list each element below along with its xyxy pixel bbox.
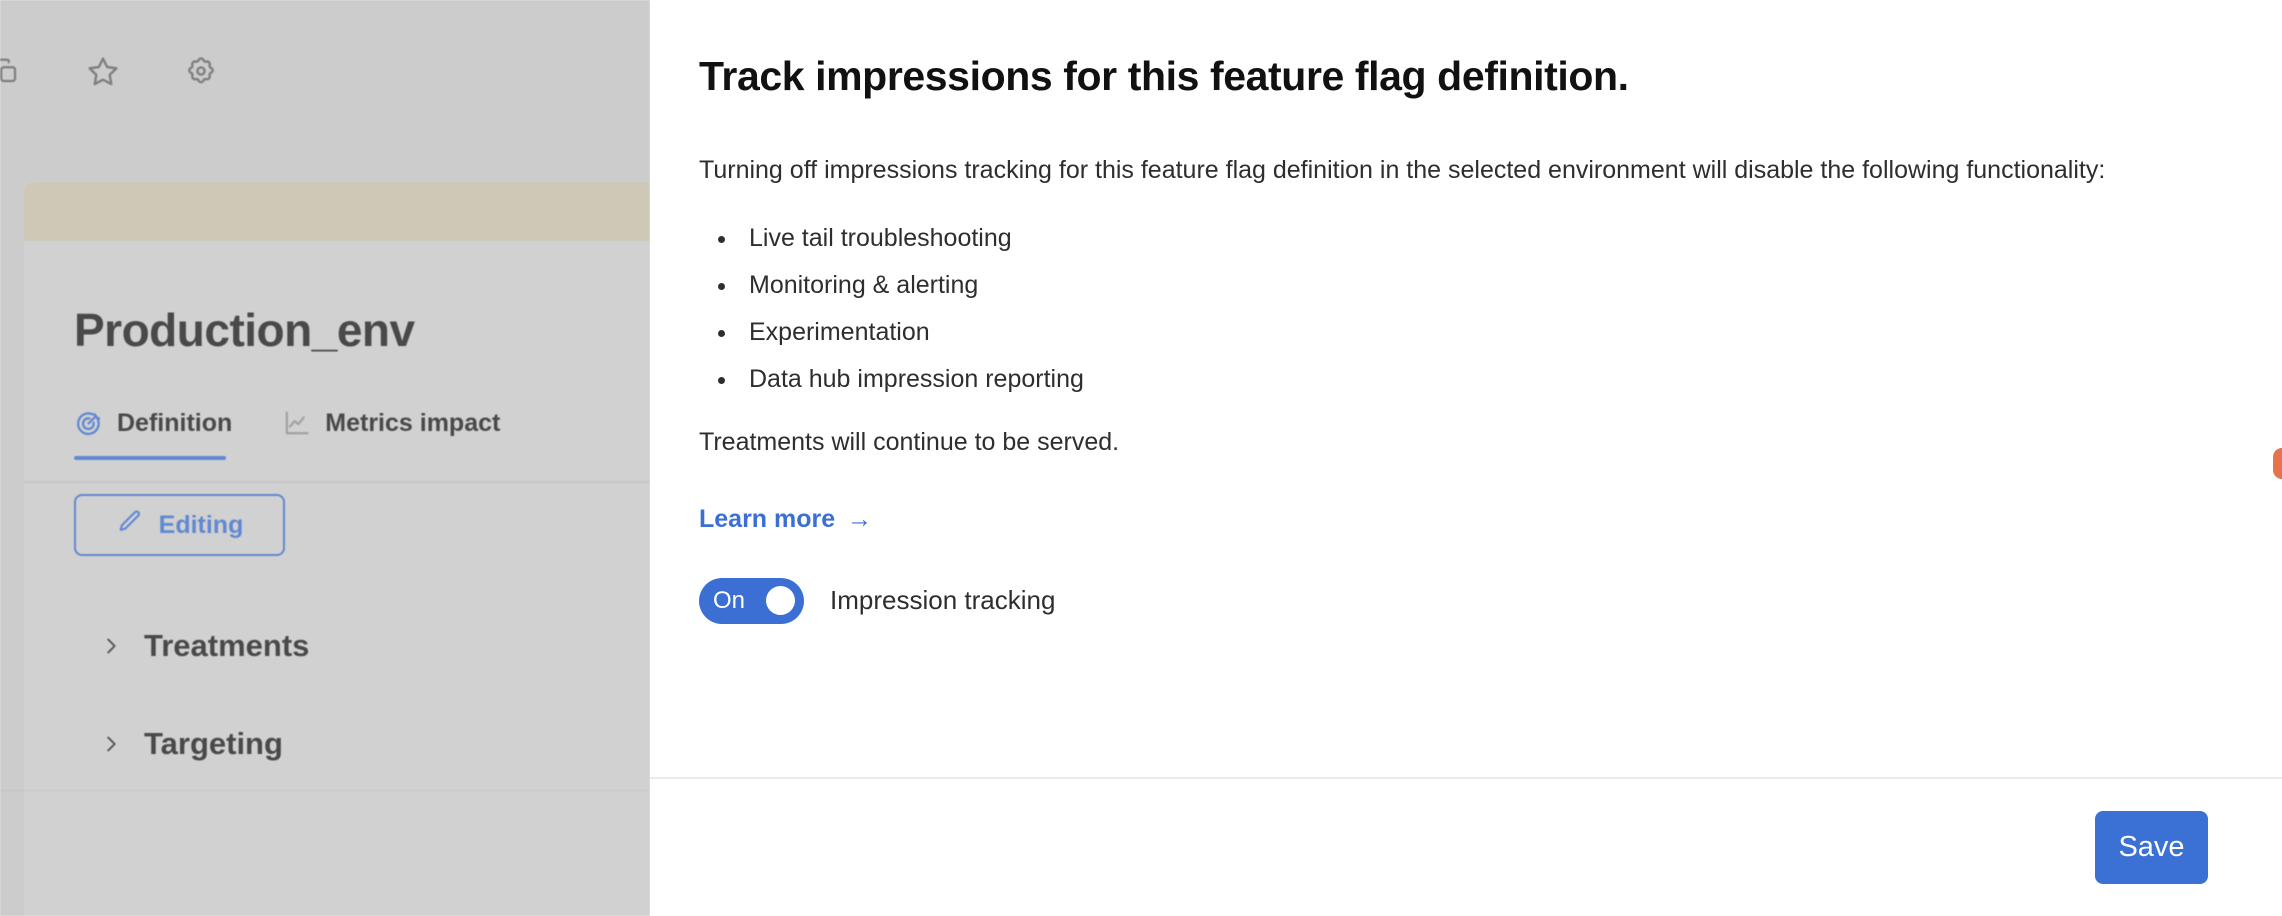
page-title: Production_env xyxy=(74,303,650,357)
tab-metrics-impact-label: Metrics impact xyxy=(325,409,500,438)
tab-metrics-impact[interactable]: Metrics impact xyxy=(282,409,500,460)
edge-badge-indicator[interactable] xyxy=(2273,448,2282,479)
impression-tracking-toggle-row: On Impression tracking xyxy=(699,578,2202,624)
tab-bar-divider xyxy=(24,481,650,483)
modal-description: Turning off impressions tracking for thi… xyxy=(699,151,2202,190)
section-treatments[interactable]: Treatments xyxy=(100,628,650,664)
toggle-state-label: On xyxy=(713,587,745,615)
star-icon[interactable] xyxy=(80,48,126,94)
modal-footer: Save xyxy=(650,779,2282,916)
list-item: Monitoring & alerting xyxy=(739,273,2202,298)
modal-backdrop: Production_env Definition xyxy=(0,0,650,916)
app-root: Production_env Definition xyxy=(0,0,2282,916)
gear-icon[interactable] xyxy=(178,48,224,94)
section-targeting-label: Targeting xyxy=(144,726,283,762)
list-item: Data hub impression reporting xyxy=(739,367,2202,392)
tab-definition[interactable]: Definition xyxy=(74,409,232,460)
section-treatments-label: Treatments xyxy=(144,628,309,664)
chevron-right-icon xyxy=(100,733,122,755)
editing-button[interactable]: Editing xyxy=(74,494,285,556)
copy-icon[interactable] xyxy=(0,48,28,94)
modal-title: Track impressions for this feature flag … xyxy=(699,52,2202,101)
disabled-functionality-list: Live tail troubleshooting Monitoring & a… xyxy=(739,226,2202,392)
environment-card: Production_env Definition xyxy=(24,182,650,916)
tab-bar: Definition Metrics impact xyxy=(74,409,650,460)
learn-more-label: Learn more xyxy=(699,505,835,534)
toolbar-icons xyxy=(0,48,224,94)
editing-button-label: Editing xyxy=(159,511,244,540)
target-icon xyxy=(74,409,103,438)
backdrop-divider xyxy=(0,790,650,791)
pencil-icon xyxy=(116,508,143,542)
learn-more-link[interactable]: Learn more → xyxy=(699,505,872,534)
chevron-right-icon xyxy=(100,635,122,657)
toggle-knob xyxy=(766,586,795,615)
save-button[interactable]: Save xyxy=(2095,811,2208,884)
impression-tracking-modal: Track impressions for this feature flag … xyxy=(650,0,2282,916)
arrow-right-icon: → xyxy=(847,505,872,534)
modal-body: Track impressions for this feature flag … xyxy=(650,0,2282,624)
impression-tracking-label: Impression tracking xyxy=(830,585,1055,616)
list-item: Live tail troubleshooting xyxy=(739,226,2202,251)
line-chart-icon xyxy=(282,409,311,438)
section-targeting[interactable]: Targeting xyxy=(100,726,650,762)
impression-tracking-toggle[interactable]: On xyxy=(699,578,804,624)
modal-note: Treatments will continue to be served. xyxy=(699,428,2202,457)
tab-definition-label: Definition xyxy=(117,409,232,438)
environment-banner xyxy=(24,182,650,241)
list-item: Experimentation xyxy=(739,320,2202,345)
